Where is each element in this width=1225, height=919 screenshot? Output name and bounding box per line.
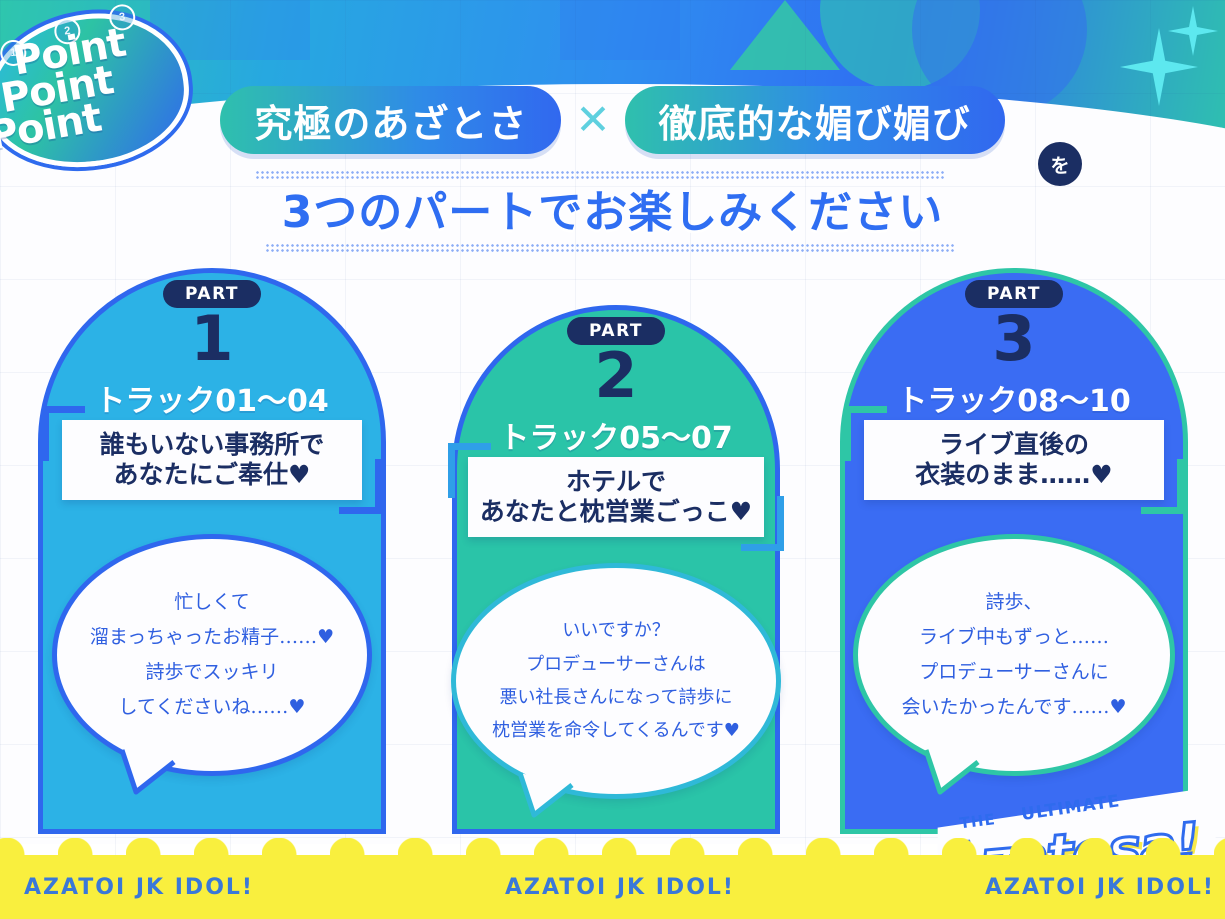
part-quote-2: いいですか？ プロデューサーさんは 悪い社長さんになって詩歩に 枕営業を命令して… bbox=[492, 614, 740, 747]
part-card-2[interactable]: PART 2 トラック05〜07 ホテルで あなたと枕営業ごっこ♥ いいですか？… bbox=[452, 305, 780, 834]
part-tracks-1: トラック01〜04 bbox=[95, 376, 329, 420]
part-title-box-3: ライブ直後の 衣装のまま……♥ bbox=[864, 420, 1164, 500]
slide-root: 1 2 3 Point Point Point 究極のあざとさ ✕ 徹底的な媚び… bbox=[0, 0, 1225, 919]
part-title-line-3b: 衣装のまま……♥ bbox=[915, 460, 1112, 491]
bracket-top-left-2 bbox=[448, 443, 491, 498]
footer-tagline-row: AZATOI JK IDOL! AZATOI JK IDOL! AZATOI J… bbox=[0, 855, 1225, 919]
footer-tagline-1: AZATOI JK IDOL! bbox=[24, 875, 254, 900]
part-card-3[interactable]: PART 3 トラック08〜10 ライブ直後の 衣装のまま……♥ 詩歩、 ライブ… bbox=[840, 268, 1188, 834]
part-title-line-1b: あなたにご奉仕♥ bbox=[114, 460, 311, 491]
part-title-box-1: 誰もいない事務所で あなたにご奉仕♥ bbox=[62, 420, 362, 500]
part-title-line-2b: あなたと枕営業ごっこ♥ bbox=[480, 497, 752, 528]
part-title-line-1a: 誰もいない事務所で bbox=[100, 430, 325, 461]
part-title-line-3a: ライブ直後の bbox=[939, 430, 1089, 461]
bubble-tail-2 bbox=[514, 771, 580, 823]
part-bubble-3: 詩歩、 ライブ中もずっと…… プロデューサーさんに 会いたかったんです……♥ bbox=[853, 534, 1175, 776]
part-number-1: 1 bbox=[190, 308, 233, 370]
part-bubble-2: いいですか？ プロデューサーさんは 悪い社長さんになって詩歩に 枕営業を命令して… bbox=[451, 563, 781, 799]
part-card-1[interactable]: PART 1 トラック01〜04 誰もいない事務所で あなたにご奉仕♥ 忙しくて… bbox=[38, 268, 386, 834]
part-quote-3: 詩歩、 ライブ中もずっと…… プロデューサーさんに 会いたかったんです……♥ bbox=[901, 585, 1126, 726]
footer-tagline-2: AZATOI JK IDOL! bbox=[505, 875, 735, 900]
bracket-top-left-1 bbox=[42, 406, 85, 461]
part-number-3: 3 bbox=[992, 308, 1035, 370]
part-title-line-2a: ホテルで bbox=[566, 467, 666, 498]
part-number-2: 2 bbox=[594, 345, 637, 407]
part-title-box-2: ホテルで あなたと枕営業ごっこ♥ bbox=[468, 457, 764, 537]
bracket-bottom-right-3 bbox=[1141, 459, 1184, 514]
bubble-tail-3 bbox=[920, 748, 986, 800]
parts-row: PART 1 トラック01〜04 誰もいない事務所で あなたにご奉仕♥ 忙しくて… bbox=[0, 0, 1225, 919]
footer-tagline-3: AZATOI JK IDOL! bbox=[985, 875, 1215, 900]
bracket-bottom-right-2 bbox=[741, 496, 784, 551]
bracket-top-left-3 bbox=[844, 406, 887, 461]
part-tracks-2: トラック05〜07 bbox=[499, 413, 733, 457]
part-tracks-3: トラック08〜10 bbox=[897, 376, 1131, 420]
bracket-bottom-right-1 bbox=[339, 459, 382, 514]
part-bubble-1: 忙しくて 溜まっちゃったお精子……♥ 詩歩でスッキリ してくださいね……♥ bbox=[52, 534, 372, 776]
part-quote-1: 忙しくて 溜まっちゃったお精子……♥ 詩歩でスッキリ してくださいね……♥ bbox=[90, 585, 334, 726]
bubble-tail-1 bbox=[116, 748, 182, 800]
